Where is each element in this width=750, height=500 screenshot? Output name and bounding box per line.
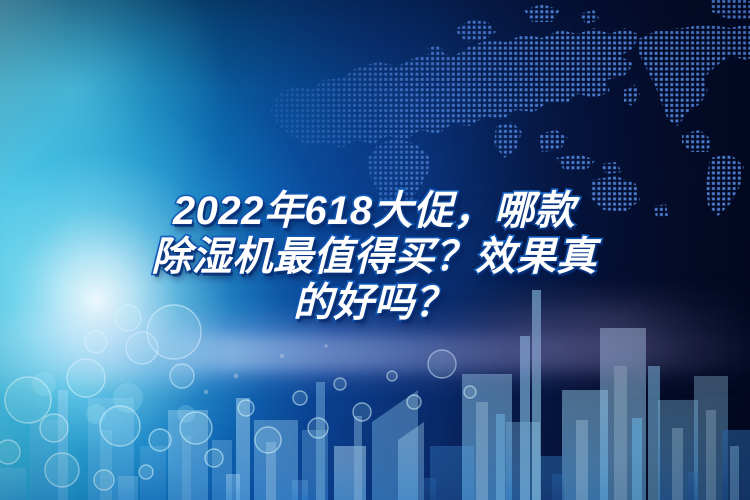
headline-line-2: 除湿机最值得买？效果真 (124, 234, 624, 280)
horizontal-light-streak-bright (140, 336, 750, 370)
headline-line-3: 的好吗？ (124, 280, 624, 326)
headline-line-1: 2022年618大促，哪款 (124, 188, 624, 234)
headline-text-block: 2022年618大促，哪款 除湿机最值得买？效果真 的好吗？ (124, 188, 624, 326)
promotional-banner: 2022年618大促，哪款 除湿机最值得买？效果真 的好吗？ (0, 0, 750, 500)
